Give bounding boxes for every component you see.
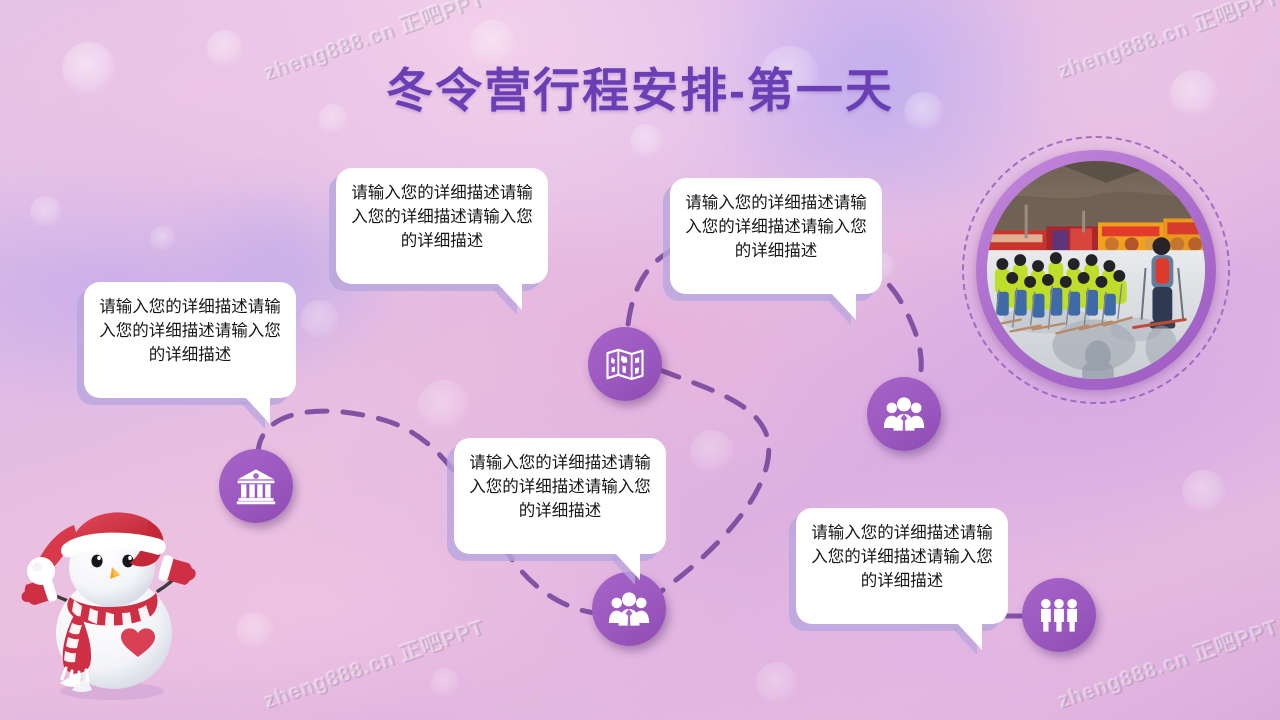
ski-camp-illustration [987,161,1205,379]
bubble-tail-icon [830,292,856,320]
icon-node-people-group-center[interactable] [592,572,666,646]
photo-ring [976,150,1216,390]
bubble-text: 请输入您的详细描述请输入您的详细描述请输入您的详细描述 [466,452,654,524]
people-group-icon [608,588,650,630]
speech-bubble-4[interactable]: 请输入您的详细描述请输入您的详细描述请输入您的详细描述 [454,438,666,554]
bubble-tail-icon [496,282,522,310]
photo-image [987,161,1205,379]
snowman-illustration [8,505,213,705]
folded-map-icon [605,344,645,384]
speech-bubble-2[interactable]: 请输入您的详细描述请输入您的详细描述请输入您的详细描述 [336,168,548,284]
icon-node-people-group-right[interactable] [867,377,941,451]
three-persons-icon [1038,594,1080,636]
ski-camp-photo[interactable] [962,136,1230,404]
speech-bubble-1[interactable]: 请输入您的详细描述请输入您的详细描述请输入您的详细描述 [84,282,296,398]
icon-node-folded-map[interactable] [588,327,662,401]
bubble-text: 请输入您的详细描述请输入您的详细描述请输入您的详细描述 [348,182,536,254]
icon-node-bank-building[interactable] [219,449,293,523]
speech-bubble-5[interactable]: 请输入您的详细描述请输入您的详细描述请输入您的详细描述 [796,508,1008,624]
snowman-mascot [8,505,213,705]
speech-bubble-3[interactable]: 请输入您的详细描述请输入您的详细描述请输入您的详细描述 [670,178,882,294]
page-title: 冬令营行程安排-第一天 [0,52,1280,121]
bubble-tail-icon [956,622,982,650]
slide-canvas: 冬令营行程安排-第一天 [0,0,1280,720]
bubble-text: 请输入您的详细描述请输入您的详细描述请输入您的详细描述 [96,296,284,368]
people-group-icon [883,393,925,435]
bubble-tail-icon [244,396,270,424]
bubble-text: 请输入您的详细描述请输入您的详细描述请输入您的详细描述 [808,522,996,594]
icon-node-three-persons[interactable] [1022,578,1096,652]
bubble-text: 请输入您的详细描述请输入您的详细描述请输入您的详细描述 [682,192,870,264]
bubble-tail-icon [614,552,640,580]
bank-building-icon [236,466,276,506]
